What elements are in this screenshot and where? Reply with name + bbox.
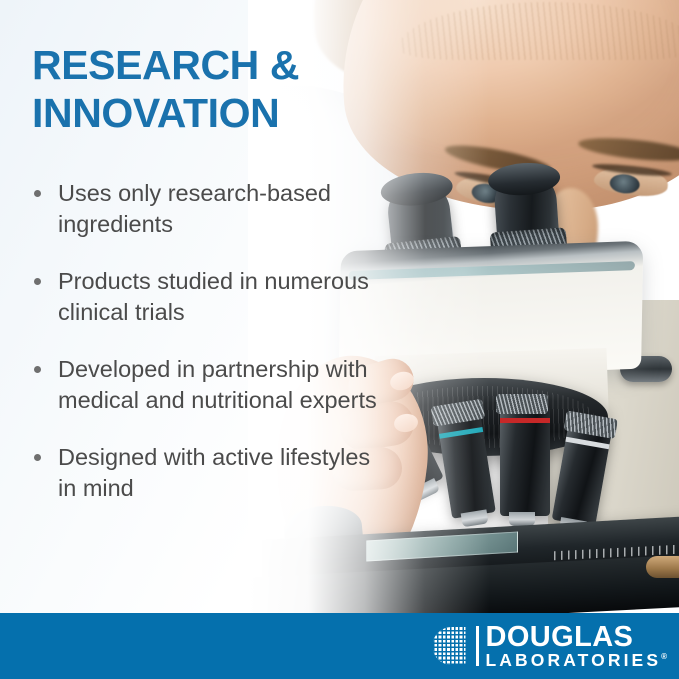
objective-color-band-white xyxy=(565,437,609,450)
registered-trademark-mark: ® xyxy=(661,652,667,661)
logo-grid-mesh xyxy=(433,627,471,665)
brand-footer-bar: DOUGLAS LABORATORIES® xyxy=(0,613,679,679)
logo-wordmark: DOUGLAS LABORATORIES® xyxy=(486,623,668,670)
logo-brand-name: DOUGLAS xyxy=(486,623,668,651)
logo-divider-rule xyxy=(476,626,479,666)
objective-collar xyxy=(496,394,548,414)
list-item: Uses only research-based ingredients xyxy=(30,178,390,241)
microscope-teal-accent-ring xyxy=(348,261,635,280)
page-title-line-1: RESEARCH & xyxy=(32,42,392,90)
objective-color-band-red xyxy=(500,418,550,423)
list-item: Developed in partnership with medical an… xyxy=(30,354,390,417)
logo-brand-subtitle: LABORATORIES® xyxy=(486,652,668,670)
objective-lens-red xyxy=(500,404,550,516)
objective-tip xyxy=(461,509,489,527)
feature-bullet-list: Uses only research-based ingredients Pro… xyxy=(30,178,390,530)
objective-tip xyxy=(509,512,535,526)
list-item: Designed with active lifestyles in mind xyxy=(30,442,390,505)
douglas-laboratories-logo: DOUGLAS LABORATORIES® xyxy=(433,619,668,673)
logo-subtitle-text: LABORATORIES xyxy=(486,650,662,670)
product-feature-graphic: RESEARCH & INNOVATION Uses only research… xyxy=(0,0,679,679)
page-title: RESEARCH & INNOVATION xyxy=(32,42,392,137)
list-item: Products studied in numerous clinical tr… xyxy=(30,266,390,329)
page-title-line-2: INNOVATION xyxy=(32,90,392,138)
objective-color-band-teal xyxy=(439,427,483,439)
douglas-grid-circle-logo-icon xyxy=(433,627,471,665)
stage-adjustment-knob xyxy=(646,556,679,578)
